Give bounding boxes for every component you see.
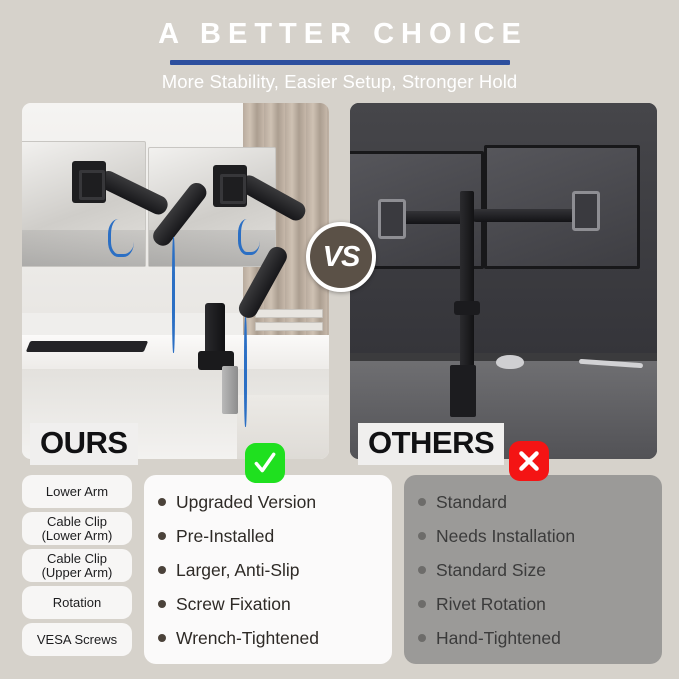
ours-feature-list: Upgraded Version Pre-Installed Larger, A… [144,475,392,664]
feature-text: Hand-Tightened [436,628,561,649]
feature-text: Larger, Anti-Slip [176,560,300,581]
vesa-plate-right [213,165,247,207]
others-feature-list: Standard Needs Installation Standard Siz… [404,475,662,664]
list-item: Standard Size [418,553,662,587]
criteria-column: Lower Arm Cable Clip (Lower Arm) Cable C… [22,475,132,660]
others-label: OTHERS [358,423,504,465]
bullet-icon [158,600,166,608]
feature-text: Screw Fixation [176,594,291,615]
ours-label: OURS [30,423,138,465]
title-divider-rule [170,60,510,65]
cross-icon [516,448,542,474]
dark-monitor-right [484,145,640,269]
list-item: Standard [418,485,662,519]
criterion-cable-clip-upper-arm: Cable Clip (Upper Arm) [22,549,132,582]
page-title: A BETTER CHOICE [0,20,679,49]
bullet-icon [418,600,426,608]
others-cross-badge [509,441,549,481]
feature-text: Upgraded Version [176,492,316,513]
bullet-icon [418,566,426,574]
criterion-line-2: (Lower Arm) [42,528,113,543]
center-pole [460,191,474,379]
bullet-icon [158,532,166,540]
criterion-cable-clip-lower-arm: Cable Clip (Lower Arm) [22,512,132,545]
list-item: Rivet Rotation [418,587,662,621]
dark-vesa-plate-right [572,191,600,231]
feature-text: Needs Installation [436,526,575,547]
list-item: Hand-Tightened [418,621,662,655]
cable-clip-upper-right [238,219,260,255]
vs-badge: VS [306,222,376,292]
feature-comparison: Lower Arm Cable Clip (Lower Arm) Cable C… [0,475,679,675]
others-product-photo [350,103,657,459]
bullet-icon [158,566,166,574]
criterion-line-1: Cable Clip [47,551,107,566]
bullet-icon [418,634,426,642]
list-item: Upgraded Version [158,485,392,519]
list-item: Screw Fixation [158,587,392,621]
criterion-line-1: Cable Clip [47,514,107,529]
pole-arm-right [470,209,582,222]
mouse [496,355,524,369]
ours-product-photo [22,103,329,459]
clamp-screw [222,366,238,414]
cable-run-left [172,237,175,353]
header: A BETTER CHOICE More Stability, Easier S… [0,0,679,100]
cable-clip-upper-left [108,219,134,257]
keyboard [26,341,148,352]
list-item: Pre-Installed [158,519,392,553]
list-item: Larger, Anti-Slip [158,553,392,587]
list-item: Wrench-Tightened [158,621,392,655]
bullet-icon [418,498,426,506]
pole-joint [454,301,480,315]
list-item: Needs Installation [418,519,662,553]
feature-text: Pre-Installed [176,526,274,547]
vesa-plate-left [72,161,106,203]
dark-vesa-plate-left [378,199,406,239]
others-scene [350,103,657,459]
criterion-rotation: Rotation [22,586,132,619]
feature-text: Wrench-Tightened [176,628,319,649]
bullet-icon [158,634,166,642]
cable-run-right [244,317,247,427]
ours-check-badge [245,443,285,483]
criterion-line-2: (Upper Arm) [42,565,113,580]
feature-text: Rivet Rotation [436,594,546,615]
feature-text: Standard [436,492,507,513]
page-subtitle: More Stability, Easier Setup, Stronger H… [0,71,679,93]
ours-scene [22,103,329,459]
dark-desk-clamp [450,365,476,417]
check-icon [252,450,278,476]
criterion-vesa-screws: VESA Screws [22,623,132,656]
feature-text: Standard Size [436,560,546,581]
bullet-icon [418,532,426,540]
bullet-icon [158,498,166,506]
criterion-lower-arm: Lower Arm [22,475,132,508]
